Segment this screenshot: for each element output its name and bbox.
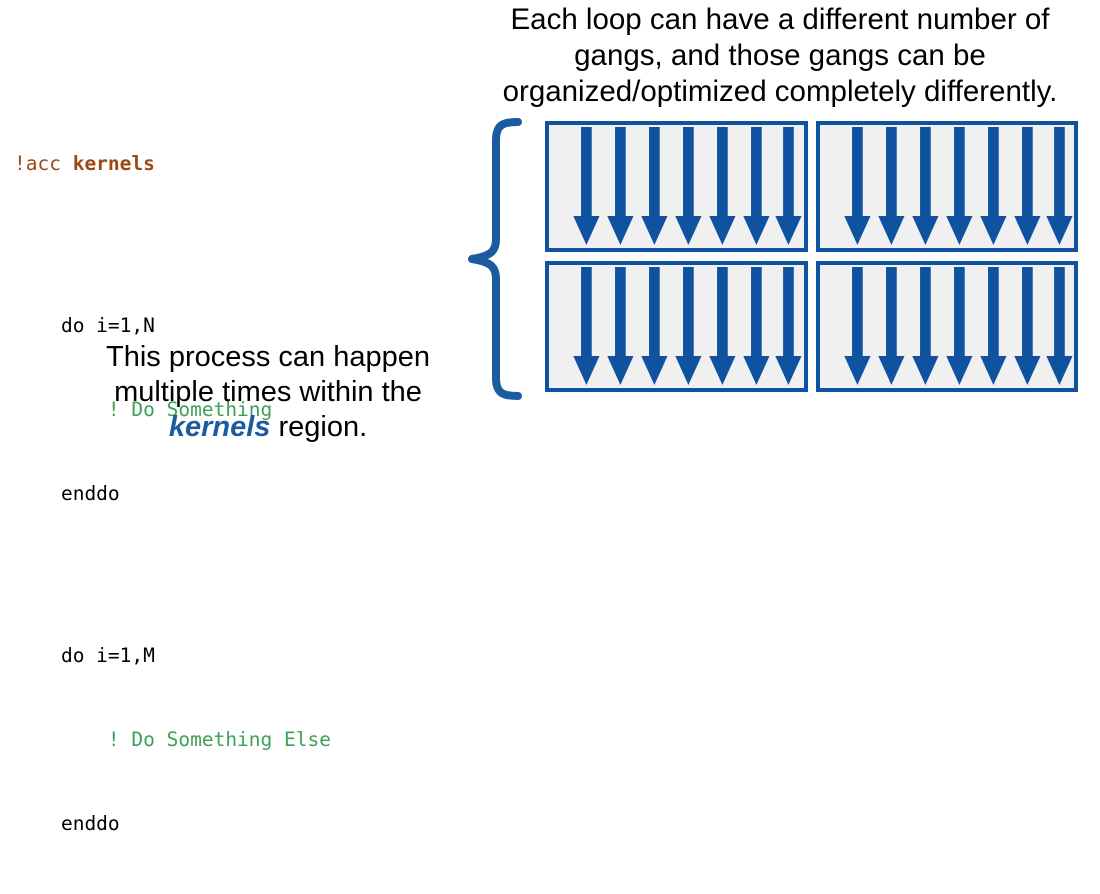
code-blank-line-2 bbox=[14, 564, 474, 586]
gang-box-bottom-left[interactable] bbox=[545, 261, 808, 392]
gang-box-top-left[interactable] bbox=[545, 121, 808, 252]
code-caption: This process can happen multiple times w… bbox=[58, 340, 478, 445]
code-line-directive: !acc kernels bbox=[14, 150, 474, 178]
code-blank-line-1 bbox=[14, 234, 474, 256]
gang-arrows-bottom-left bbox=[549, 265, 804, 388]
code-token-kernels: kernels bbox=[73, 152, 155, 175]
gang-arrows-bottom-right bbox=[820, 265, 1075, 388]
code-line-enddo-1: enddo bbox=[14, 480, 474, 508]
code-caption-line-3-tail: region. bbox=[270, 411, 367, 443]
gang-heading-line-2: gangs, and those gangs can be bbox=[574, 39, 986, 72]
gang-heading: Each loop can have a different number of… bbox=[462, 2, 1098, 110]
gang-heading-line-1: Each loop can have a different number of bbox=[510, 3, 1049, 36]
code-line-do-m: do i=1,M bbox=[14, 642, 474, 670]
gang-box-bottom-right[interactable] bbox=[816, 261, 1079, 392]
code-caption-line-1: This process can happen bbox=[106, 341, 430, 373]
gang-heading-line-3: organized/optimized completely different… bbox=[503, 75, 1058, 108]
code-line-enddo-2: enddo bbox=[14, 810, 474, 838]
gang-row-top bbox=[545, 121, 1078, 252]
code-line-do-n: do i=1,N bbox=[14, 312, 474, 340]
gang-grid bbox=[545, 121, 1078, 396]
gang-row-bottom bbox=[545, 261, 1078, 392]
code-token-directive: !acc bbox=[14, 152, 73, 175]
gang-box-top-right[interactable] bbox=[816, 121, 1079, 252]
gang-arrows-top-right bbox=[820, 125, 1075, 248]
gang-arrows-top-left bbox=[549, 125, 804, 248]
code-caption-keyword-kernels: kernels bbox=[169, 411, 271, 443]
code-sample-panel: !acc kernels do i=1,N ! Do Something end… bbox=[14, 94, 474, 894]
left-curly-brace bbox=[466, 118, 522, 400]
code-block: !acc kernels do i=1,N ! Do Something end… bbox=[14, 94, 474, 894]
code-caption-line-2: multiple times within the bbox=[114, 376, 422, 408]
code-line-comment-do-something-else: ! Do Something Else bbox=[14, 726, 474, 754]
